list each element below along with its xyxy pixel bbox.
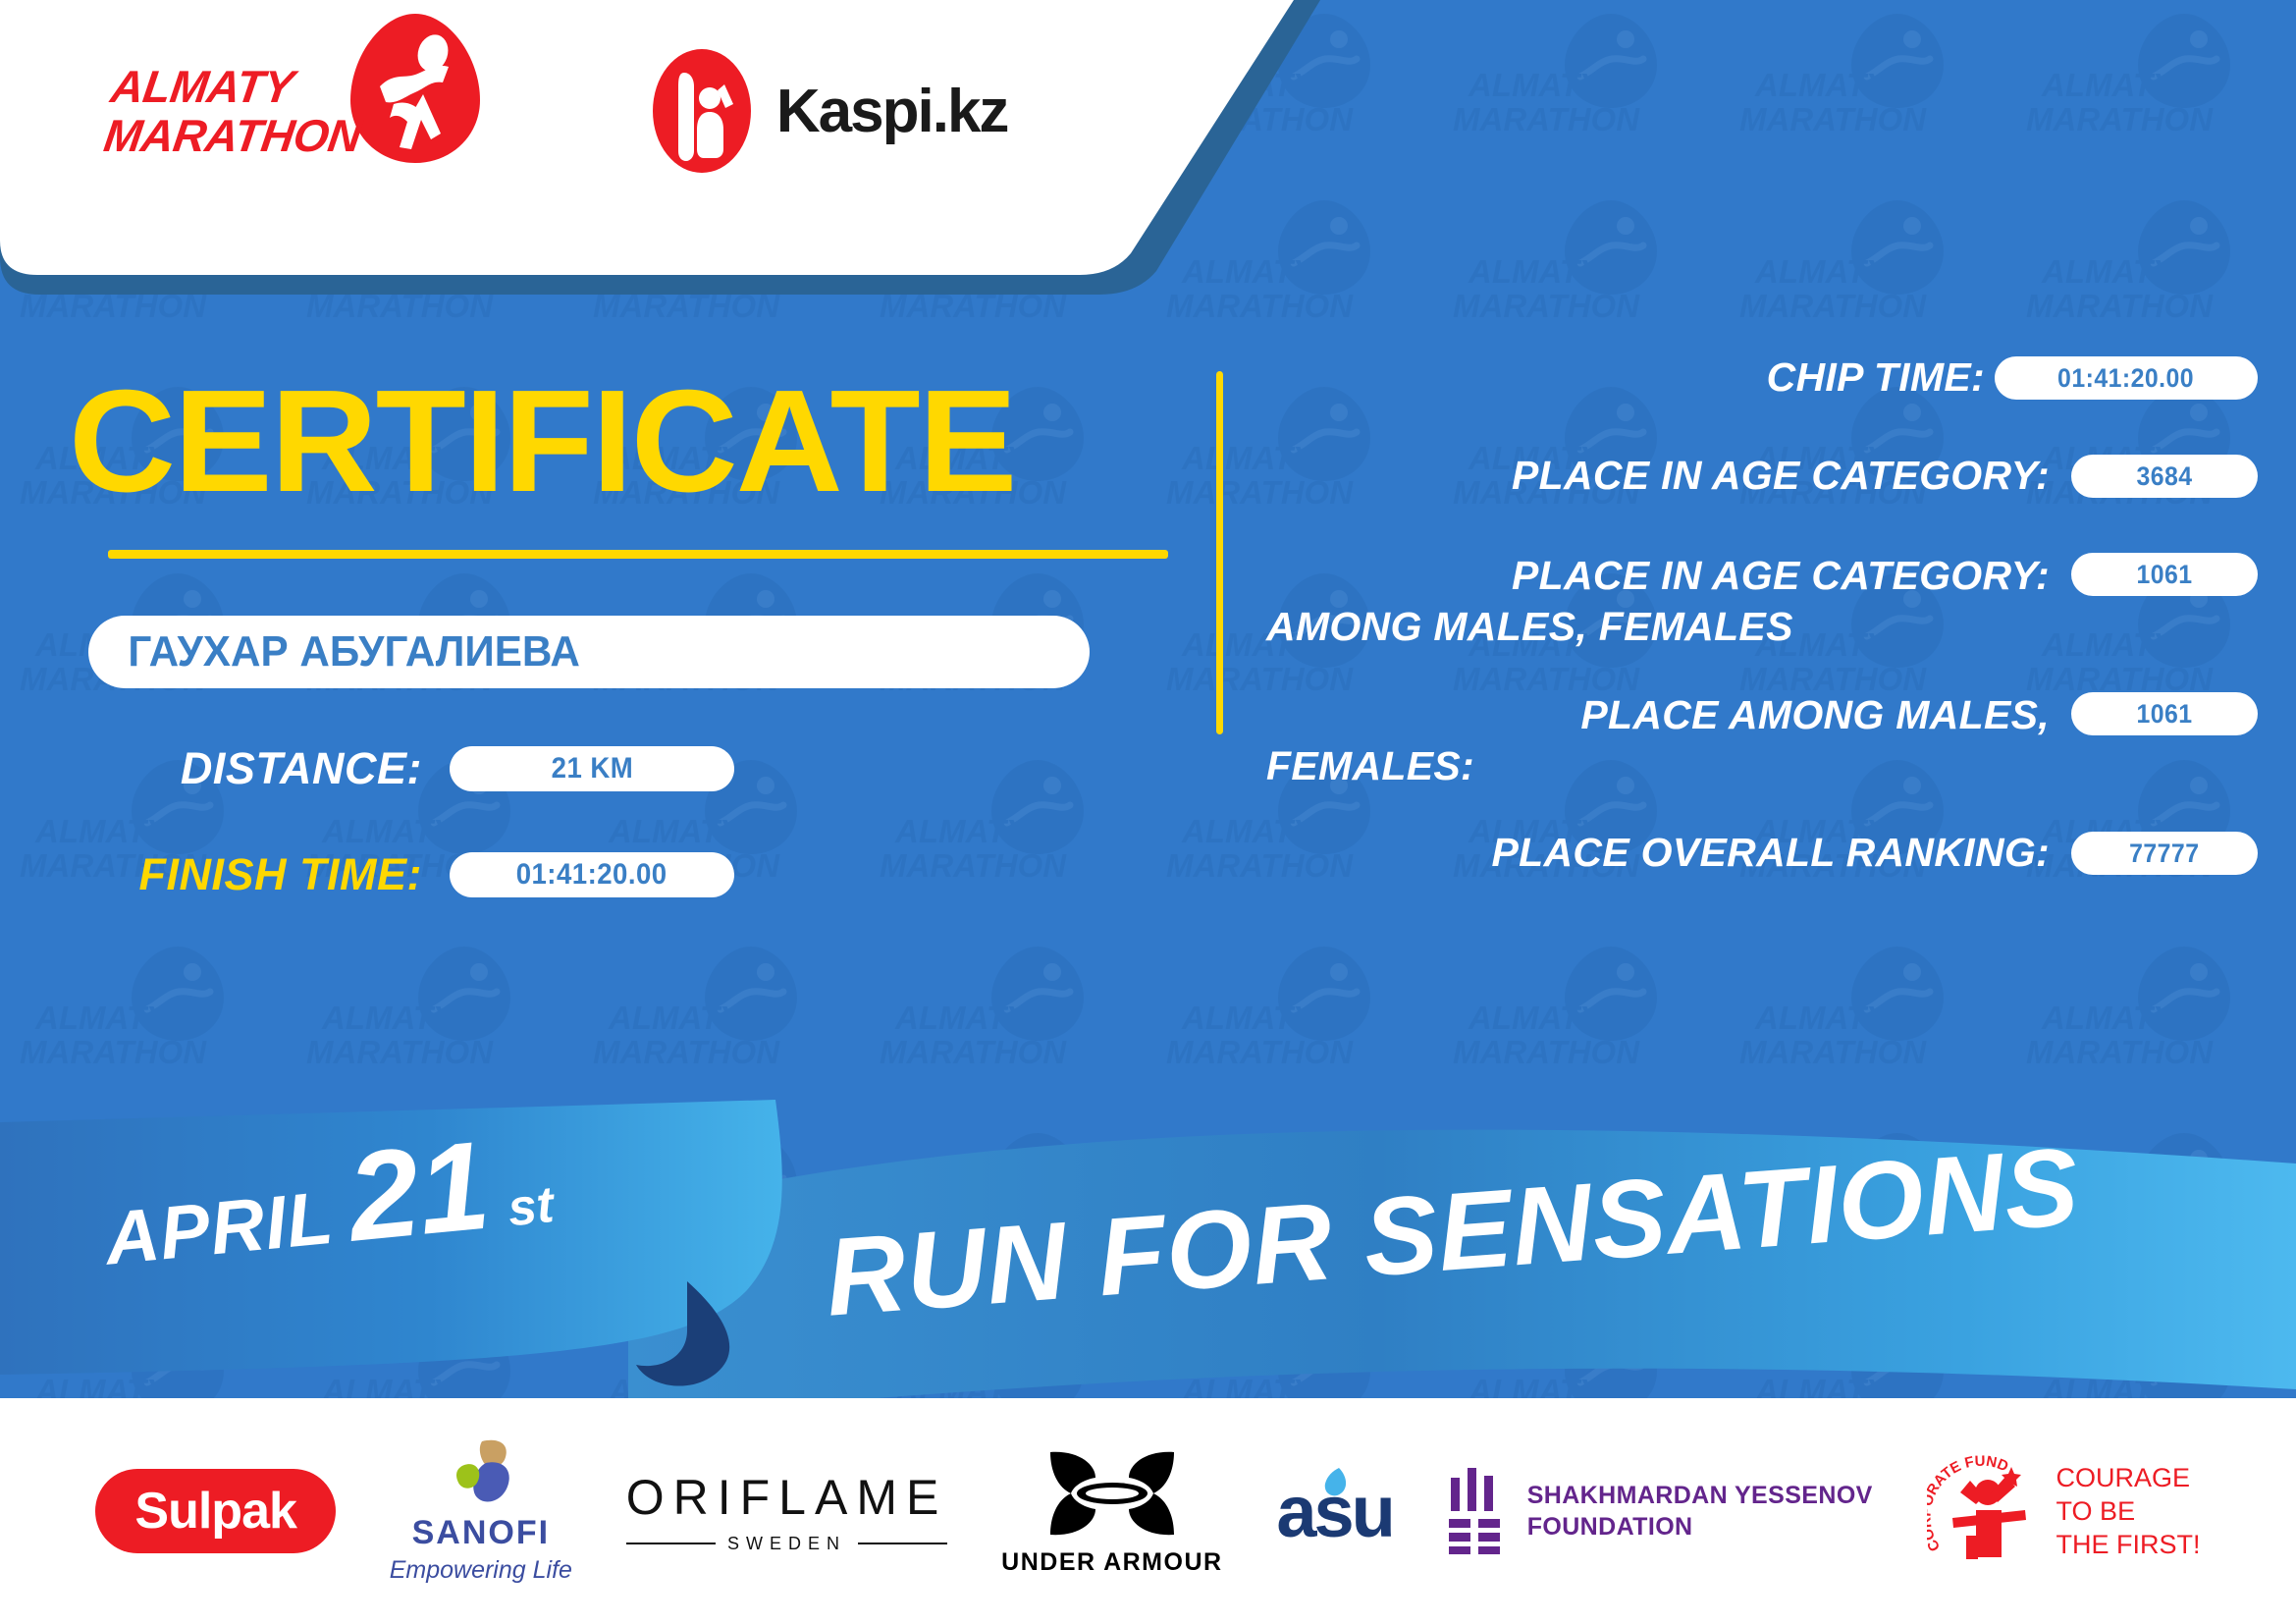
finish-time-row: FINISH TIME: 01:41:20.00 <box>59 849 1158 900</box>
yessenov-icon <box>1447 1468 1508 1554</box>
yessenov-line2: FOUNDATION <box>1527 1511 1873 1543</box>
stat-label: PLACE IN AGE CATEGORY: AMONG MALES, FEMA… <box>1266 550 2071 652</box>
under-armour-wordmark: UNDER ARMOUR <box>1001 1548 1222 1577</box>
stat-label-line2: AMONG MALES, FEMALES <box>1266 601 2050 652</box>
under-armour-icon <box>1039 1446 1186 1541</box>
stat-value-field: 1061 <box>2071 692 2258 735</box>
stat-value: 3684 <box>2136 461 2192 492</box>
courage-first-icon: CORPORATE FUND <box>1927 1453 2043 1569</box>
certificate-canvas: ALMATY MARATHON ALMATY MARATHON <box>0 0 2296 1624</box>
sponsor-corporate-fund: CORPORATE FUND COURAGE TO BE THE FIRST! <box>1927 1453 2201 1569</box>
stat-row-place-among-gender: PLACE AMONG MALES, FEMALES: 1061 <box>1266 689 2258 791</box>
sponsor-yessenov: SHAKHMARDAN YESSENOV FOUNDATION <box>1447 1468 1873 1554</box>
kaspi-wordmark: Kaspi.kz <box>776 77 1008 146</box>
kaspi-logo: Kaspi.kz <box>651 47 1008 175</box>
oriflame-country: SWEDEN <box>727 1534 846 1554</box>
almaty-marathon-logo: ALMATY MARATHON <box>108 55 484 167</box>
stat-row-place-age-category-gender: PLACE IN AGE CATEGORY: AMONG MALES, FEMA… <box>1266 550 2258 652</box>
stat-value-field: 1061 <box>2071 553 2258 596</box>
stats-panel: CHIP TIME: 01:41:20.00 PLACE IN AGE CATE… <box>1266 353 2258 927</box>
finish-time-label: FINISH TIME: <box>88 849 450 900</box>
ribbon-day: 21 <box>344 1131 493 1252</box>
stat-value-field: 77777 <box>2071 832 2258 875</box>
stat-label-line1: PLACE IN AGE CATEGORY: <box>1512 553 2050 598</box>
asu-drop-icon <box>1317 1466 1351 1505</box>
stat-value: 1061 <box>2136 560 2192 590</box>
sponsor-asu: asu <box>1276 1470 1393 1553</box>
yessenov-wordmark: SHAKHMARDAN YESSENOV FOUNDATION <box>1527 1480 1873 1543</box>
oriflame-wordmark: ORIFLAME <box>626 1469 948 1526</box>
stat-value: 01:41:20.00 <box>2057 363 2194 394</box>
stat-value: 1061 <box>2136 699 2192 730</box>
stat-row-place-age-category: PLACE IN AGE CATEGORY: 3684 <box>1266 452 2258 513</box>
cf-line1: COURAGE <box>2056 1461 2201 1494</box>
finish-time-value: 01:41:20.00 <box>516 858 667 892</box>
sulpak-wordmark: Sulpak <box>134 1482 296 1541</box>
sanofi-tagline: Empowering Life <box>390 1556 572 1585</box>
distance-value: 21 KM <box>551 752 633 785</box>
ribbon-day-suffix: st <box>506 1175 557 1238</box>
oriflame-rule-left <box>626 1543 716 1544</box>
distance-value-field: 21 KM <box>450 746 734 791</box>
cf-line3: THE FIRST! <box>2056 1528 2201 1561</box>
sponsor-sanofi: SANOFI Empowering Life <box>390 1437 572 1585</box>
yessenov-line1: SHAKHMARDAN YESSENOV <box>1527 1480 1873 1511</box>
page-title: CERTIFICATE <box>69 363 1180 520</box>
title-underline <box>108 550 1168 559</box>
sponsor-under-armour: UNDER ARMOUR <box>1001 1446 1222 1577</box>
participant-name-field: ГАУХАР АБУГАЛИЕВА <box>88 616 1090 688</box>
stat-value: 77777 <box>2129 839 2199 869</box>
finish-time-value-field: 01:41:20.00 <box>450 852 734 897</box>
sanofi-wordmark: SANOFI <box>412 1514 550 1552</box>
header-logos: ALMATY MARATHON Kaspi.kz <box>108 47 1007 175</box>
distance-row: DISTANCE: 21 KM <box>59 743 1158 794</box>
oriflame-rule-right <box>858 1543 947 1544</box>
stat-row-place-overall: PLACE OVERALL RANKING: 77777 <box>1266 829 2258 890</box>
cf-line2: TO BE <box>2056 1494 2201 1528</box>
left-panel: CERTIFICATE ГАУХАР АБУГАЛИЕВА DISTANCE: … <box>59 363 1158 900</box>
sanofi-icon <box>443 1437 519 1510</box>
almaty-marathon-wordmark: ALMATY MARATHON <box>101 62 371 160</box>
kaspi-person-icon <box>651 47 753 175</box>
oriflame-sub-row: SWEDEN <box>626 1534 948 1554</box>
sponsor-oriflame: ORIFLAME SWEDEN <box>626 1469 948 1554</box>
courage-first-wordmark: COURAGE TO BE THE FIRST! <box>2056 1461 2201 1561</box>
sponsor-sulpak: Sulpak <box>95 1469 336 1553</box>
sponsor-bar: Sulpak SANOFI Empowering Life ORIFLAME S… <box>0 1398 2296 1624</box>
stat-label: PLACE AMONG MALES, FEMALES: <box>1266 689 2071 791</box>
stat-label-line2: FEMALES: <box>1266 740 2050 791</box>
stat-label: CHIP TIME: <box>1266 353 1995 402</box>
stat-label-line1: PLACE AMONG MALES, <box>1580 692 2050 737</box>
column-divider <box>1216 371 1223 734</box>
stat-value-field: 3684 <box>2071 455 2258 498</box>
almaty-line1: ALMATY <box>108 62 371 111</box>
participant-name: ГАУХАР АБУГАЛИЕВА <box>88 627 580 677</box>
distance-label: DISTANCE: <box>88 743 450 794</box>
stat-label: PLACE IN AGE CATEGORY: <box>1266 452 2071 500</box>
almaty-line2: MARATHON <box>101 111 364 160</box>
stat-label: PLACE OVERALL RANKING: <box>1266 829 2071 877</box>
stat-value-field: 01:41:20.00 <box>1995 356 2258 400</box>
stat-row-chip-time: CHIP TIME: 01:41:20.00 <box>1266 353 2258 414</box>
